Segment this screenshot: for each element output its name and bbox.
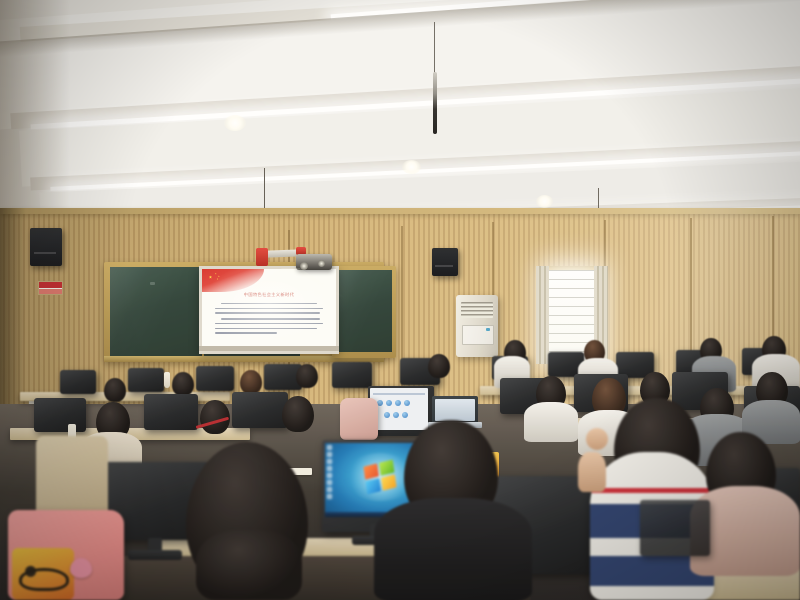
monitor-rear-view [232, 392, 288, 428]
monitor-rear-view [144, 394, 198, 430]
floor-air-conditioner [456, 295, 498, 357]
desktop-icon[interactable] [327, 473, 332, 478]
desktop-icon[interactable] [327, 494, 332, 499]
exam-app-screen[interactable] [370, 388, 428, 430]
desktop-icon[interactable] [327, 487, 332, 492]
monitor-back [128, 368, 164, 392]
question-button[interactable] [386, 400, 392, 406]
chalk-mark [150, 282, 155, 285]
desktop-icon[interactable] [327, 466, 332, 471]
student-head [296, 364, 318, 388]
chalkboard-panel-left [110, 267, 202, 357]
question-button[interactable] [393, 412, 399, 418]
laptop-screen[interactable] [435, 399, 475, 421]
suspended-ceiling [0, 0, 800, 240]
exam-app-button-row [384, 412, 408, 418]
student-hair-foreground-center [196, 530, 302, 600]
ac-vent [461, 302, 493, 318]
bag-cartoon-graphic [12, 548, 74, 600]
monitor-stand-base [128, 550, 182, 560]
monitor-back [332, 362, 372, 388]
desktop-icon[interactable] [327, 445, 332, 450]
slide-title: 中国特色社会主义新时代 [215, 292, 322, 298]
wall-speaker-right [432, 248, 458, 276]
student-body-foreground-left [374, 498, 532, 600]
projection-screen: 中国特色社会主义新时代 [202, 269, 336, 346]
slide-flag-graphic [202, 269, 264, 292]
ac-indicator-light [486, 328, 490, 331]
projector-lens-secondary [318, 260, 325, 267]
monitor-back [196, 366, 234, 391]
wall-speaker-left [30, 228, 62, 266]
ceiling-microphone-drop [430, 22, 440, 137]
student-head [104, 378, 126, 402]
exam-app-button-row [377, 400, 410, 406]
ceiling-downlight [536, 195, 553, 208]
water-bottle [164, 372, 170, 388]
monitor-back [60, 370, 96, 394]
wall-notice-sign [38, 281, 63, 295]
student-body [524, 402, 578, 442]
window-blind-left[interactable] [536, 266, 549, 364]
screen-bottom-bar [199, 346, 339, 351]
student-head [240, 370, 262, 394]
monitor-rear-view [34, 398, 86, 432]
desktop-icon[interactable] [327, 459, 332, 464]
projector-mount-bracket [256, 248, 268, 266]
question-button[interactable] [402, 412, 408, 418]
ceiling-downlight [224, 115, 246, 131]
bag-heart-charm [70, 558, 92, 578]
projector-lens [300, 262, 308, 270]
desktop-icon[interactable] [327, 452, 332, 457]
ceiling-downlight [402, 160, 421, 174]
backpack-on-chair [340, 398, 378, 440]
question-button[interactable] [404, 400, 410, 406]
question-button[interactable] [395, 400, 401, 406]
student-hand [586, 428, 608, 450]
desktop-icon[interactable] [327, 480, 332, 485]
question-button[interactable] [384, 412, 390, 418]
student-arm [578, 452, 606, 492]
monitor-rear-view-front [640, 500, 710, 556]
student-head [282, 396, 314, 432]
classroom-photo: 中国特色社会主义新时代 [0, 0, 800, 600]
student-head [428, 354, 450, 378]
student-head [172, 372, 194, 396]
desktop-icons[interactable] [327, 445, 332, 499]
chalkboard-panel-right [336, 270, 392, 352]
